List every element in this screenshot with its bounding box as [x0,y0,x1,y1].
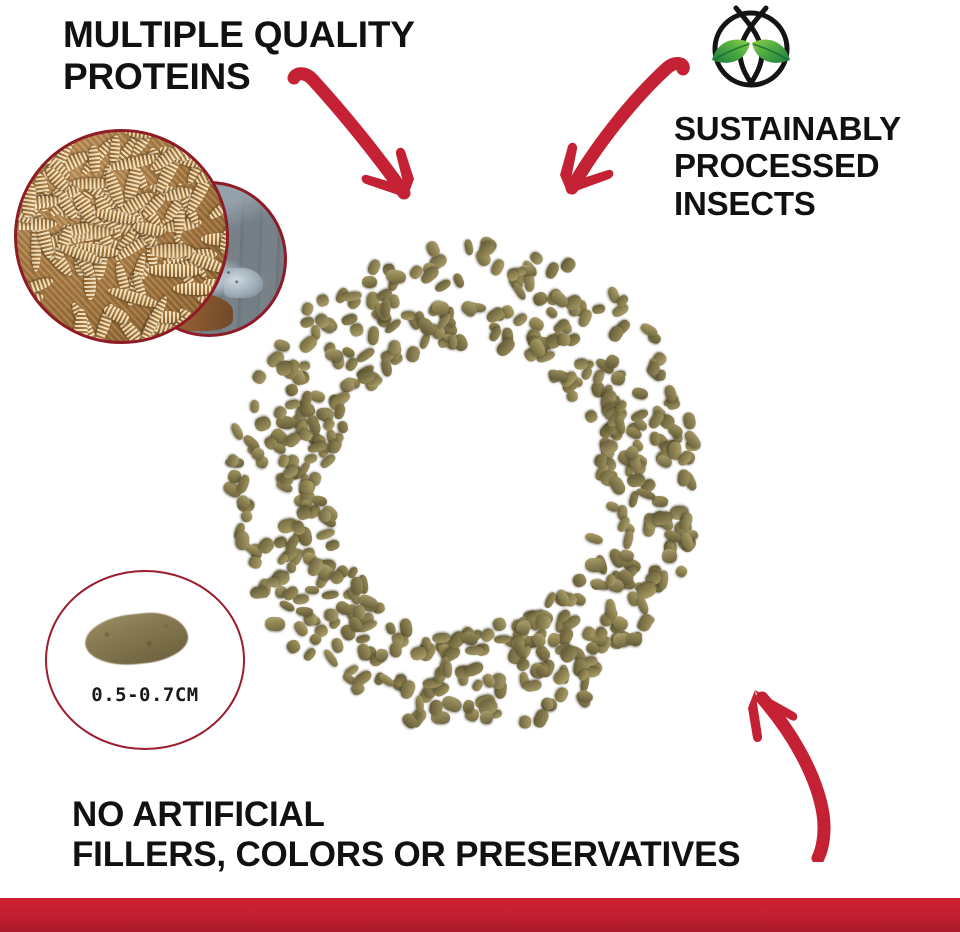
pellet [585,558,605,572]
pellet [465,645,484,654]
infographic-canvas: MULTIPLE QUALITY PROTEINS SUSTAINABLY PR… [0,0,960,932]
arrow-down-right [286,62,466,222]
insect-leaf-logo [703,3,799,95]
pellet [662,549,677,563]
pellet [519,715,532,729]
larva [51,326,70,344]
pellet [264,616,285,631]
pellet [236,531,250,550]
pellet [591,304,605,315]
pellet [480,710,494,724]
pellet [305,585,319,594]
arrow-down-left [545,55,695,220]
single-pellet-sample [83,609,191,669]
size-callout-label: 0.5-0.7CM [47,684,243,706]
pellet [299,361,311,370]
pellet [250,400,260,414]
pellet [381,297,391,317]
pellet [302,646,318,662]
pellet [285,638,303,655]
bottom-accent-bar [0,898,960,932]
pellet [559,255,578,274]
larva [173,282,215,295]
pellet [401,311,416,320]
pellet [362,275,378,288]
callout-top-right-label: SUSTAINABLY PROCESSED INSECTS [674,110,960,222]
pellet [544,261,561,281]
pellet [316,294,330,308]
pellet [275,361,291,376]
pellet [524,273,535,292]
larva [149,244,195,258]
pellet [251,369,269,387]
pellet [682,411,696,430]
callout-bottom-label: NO ARTIFICIAL FILLERS, COLORS OR PRESERV… [72,795,832,874]
pellet [366,258,383,277]
pellet [301,301,315,317]
size-callout-circle: 0.5-0.7CM [45,570,245,750]
pellet [324,608,339,621]
insect-protein-pellet-pile [232,248,702,748]
pellet [674,564,689,579]
pellet [240,509,254,524]
pellet [389,642,402,658]
black-soldier-fly-larvae-photo [14,129,229,344]
pellet [650,431,661,446]
pellet [463,239,474,256]
pellet [532,708,551,730]
arrow-up-left [722,682,847,862]
